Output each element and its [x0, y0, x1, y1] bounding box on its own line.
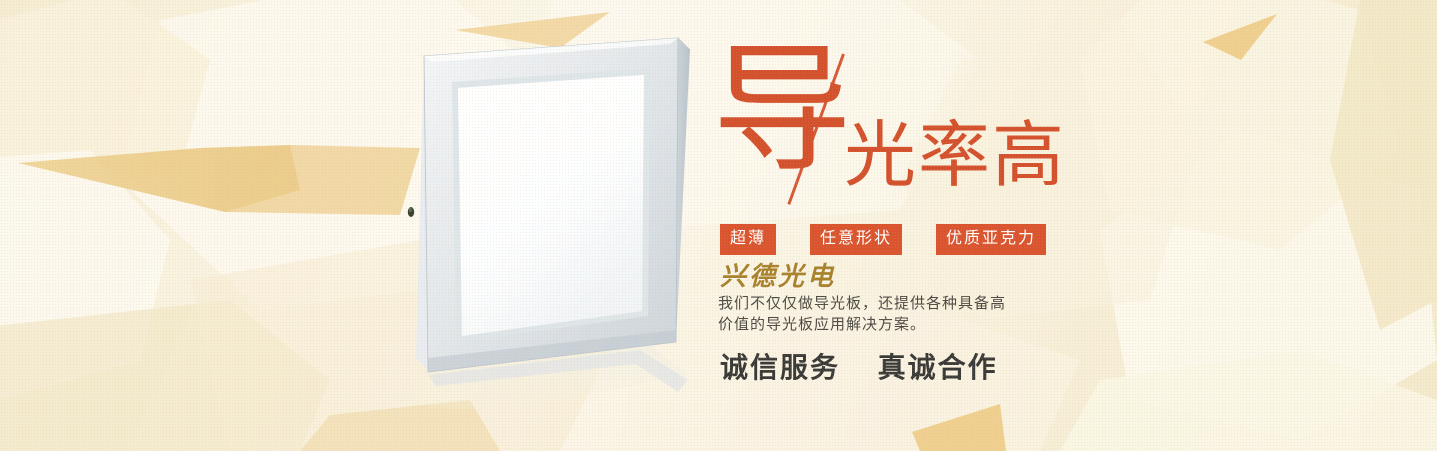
- slogan-part-left: 诚信服务: [720, 352, 840, 383]
- panel-light-glow: [458, 75, 644, 172]
- feature-tag-any-shape: 任意形状: [810, 224, 902, 255]
- led-panel-product-image: [388, 20, 718, 410]
- feature-tag-premium-acrylic: 优质亚克力: [936, 224, 1046, 255]
- panel-side-button-highlight: [409, 208, 412, 212]
- company-slogan: 诚信服务 真诚合作: [720, 352, 998, 384]
- slogan-part-right: 真诚合作: [878, 352, 998, 383]
- promotional-banner: 导 光率高 超薄 任意形状 优质亚克力 兴德光电 我们不仅仅做导光板，还提供各种…: [0, 0, 1437, 451]
- brand-name: 兴德光电: [720, 262, 836, 292]
- headline-primary-char: 导: [712, 42, 852, 182]
- feature-tag-ultrathin: 超薄: [720, 224, 776, 255]
- feature-tag-list: 超薄 任意形状 优质亚克力: [720, 224, 1046, 255]
- product-description: 我们不仅仅做导光板，还提供各种具备高价值的导光板应用解决方案。: [718, 294, 1008, 336]
- headline-secondary-text: 光率高: [844, 118, 1066, 194]
- marketing-copy-block: 导 光率高 超薄 任意形状 优质亚克力 兴德光电 我们不仅仅做导光板，还提供各种…: [700, 40, 1400, 440]
- headline: 导 光率高: [700, 40, 1100, 220]
